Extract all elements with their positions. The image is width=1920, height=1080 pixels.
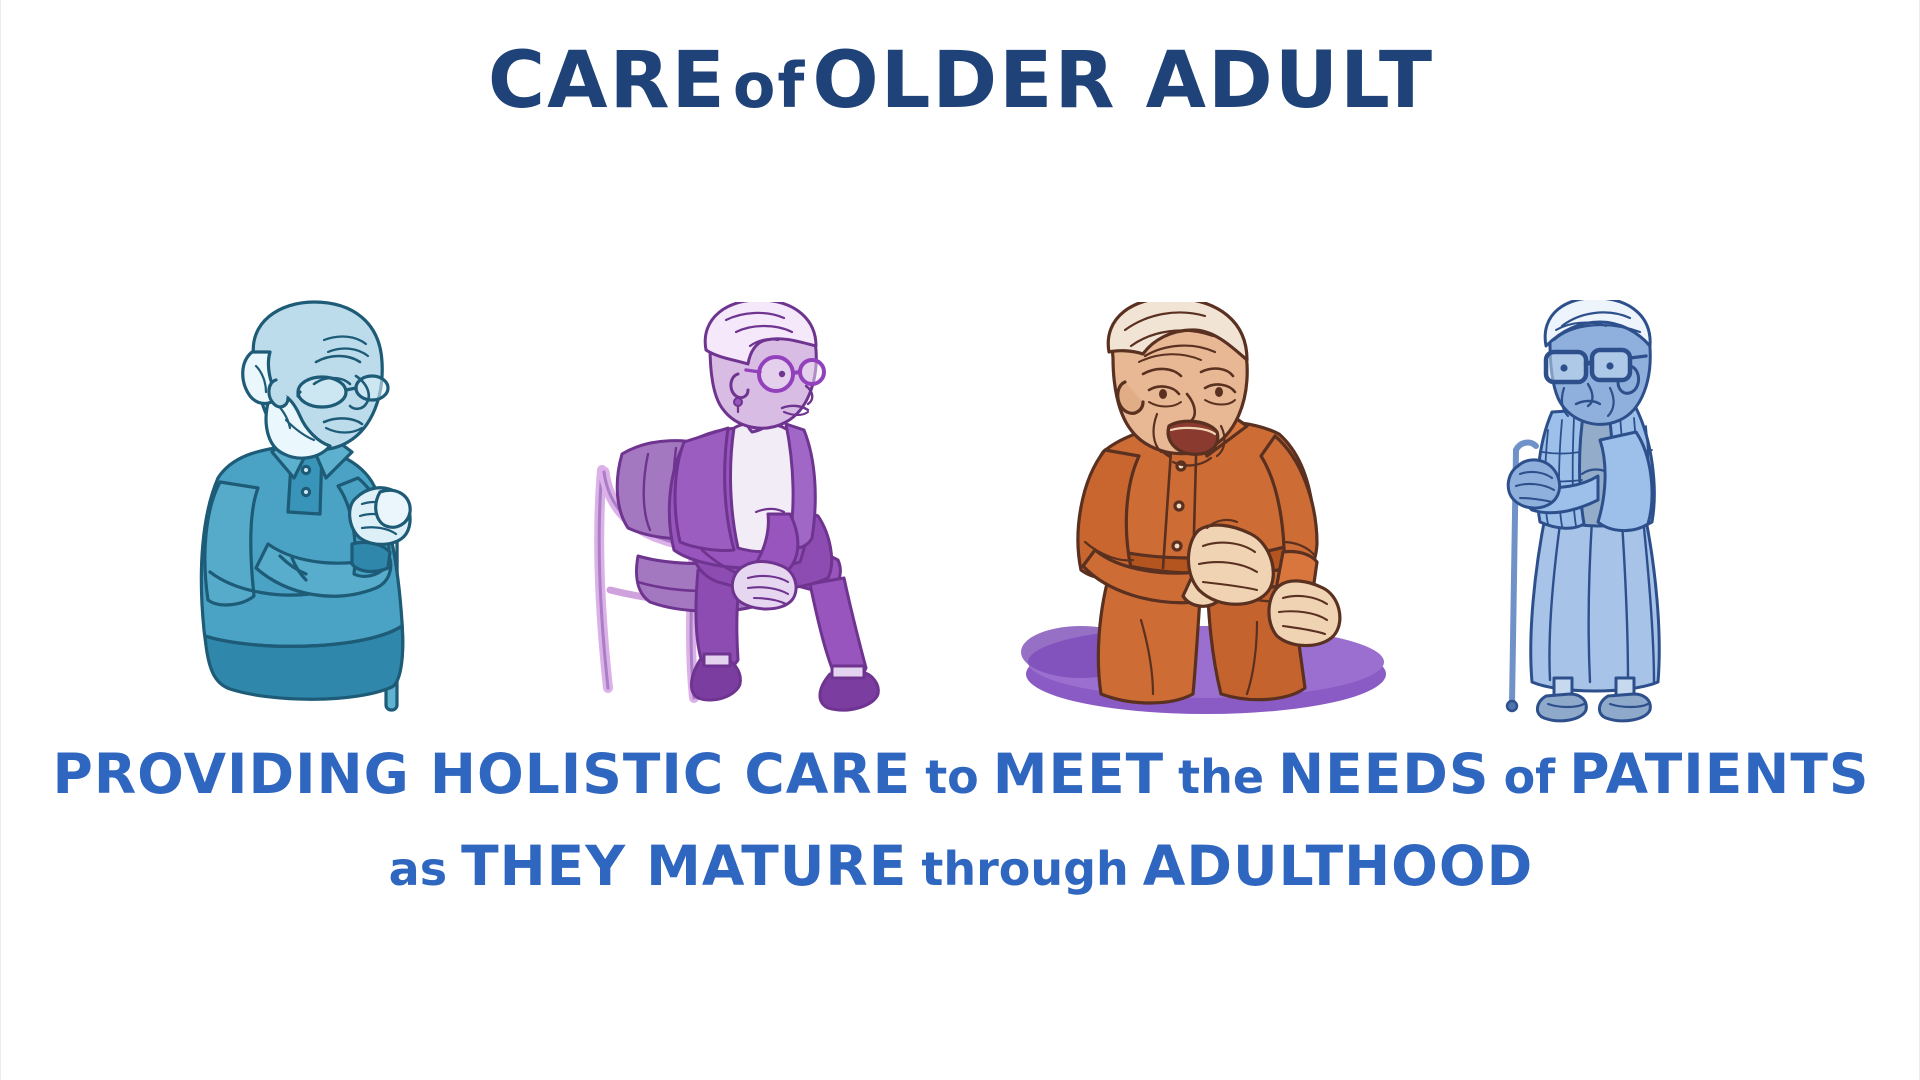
- caption-block: PROVIDING HOLISTIC CAREtoMEETtheNEEDSofP…: [1, 735, 1920, 919]
- caption-l2-seg2: THEY MATURE: [461, 834, 907, 898]
- figure-woman-standing-with-cane: [1496, 300, 1696, 730]
- illustration-group: [1, 150, 1920, 730]
- figure-man-holding-chest: [1021, 302, 1391, 722]
- caption-l2-seg4: ADULTHOOD: [1143, 834, 1534, 898]
- hands-on-cane: [350, 488, 411, 545]
- caption-l1-seg2: to: [925, 750, 979, 804]
- title-part-of: of: [727, 49, 813, 122]
- figure-woman-on-chair: [586, 302, 886, 722]
- figure-man-with-cane: [196, 300, 476, 730]
- caption-l1-seg5: NEEDS: [1278, 742, 1489, 806]
- caption-l1-seg1: PROVIDING HOLISTIC CARE: [53, 742, 912, 806]
- caption-l2-seg1: as: [389, 842, 447, 896]
- caption-line-2: asTHEY MATUREthroughADULTHOOD: [1, 827, 1920, 919]
- title-part-older-adult: OLDER ADULT: [812, 36, 1434, 126]
- title-part-care: CARE: [488, 36, 727, 126]
- right-hand: [1269, 581, 1340, 646]
- caption-l2-seg3: through: [921, 842, 1128, 896]
- caption-l1-seg4: the: [1178, 750, 1264, 804]
- caption-l1-seg6: of: [1504, 750, 1556, 804]
- caption-l1-seg3: MEET: [993, 742, 1164, 806]
- hands-on-cane: [1508, 460, 1559, 508]
- caption-line-1: PROVIDING HOLISTIC CAREtoMEETtheNEEDSofP…: [1, 735, 1920, 827]
- hands-on-lap: [732, 562, 796, 610]
- page-title: CAREofOLDER ADULT: [1, 42, 1920, 120]
- caption-l1-seg7: PATIENTS: [1569, 742, 1869, 806]
- slide-canvas: CAREofOLDER ADULT: [0, 0, 1920, 1080]
